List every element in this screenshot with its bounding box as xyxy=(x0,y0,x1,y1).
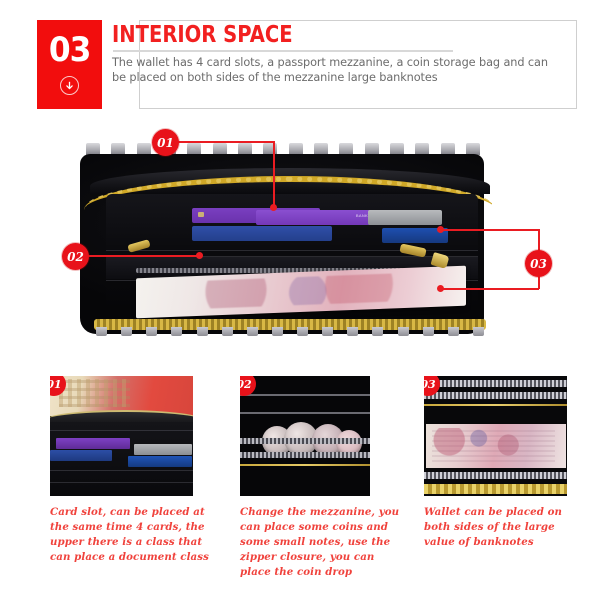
stud xyxy=(146,327,157,336)
card-in-slot xyxy=(368,210,442,225)
leather-edge-line xyxy=(240,412,370,414)
callout-03-target-dot-zipper xyxy=(437,226,444,233)
stud xyxy=(473,327,484,336)
arrow-down-circle-icon xyxy=(60,76,79,95)
wallet-interior: BANK xyxy=(106,194,478,324)
panel-caption-01: Card slot, can be placed at the same tim… xyxy=(50,505,210,565)
thumb2-background xyxy=(240,376,370,496)
stud xyxy=(347,327,358,336)
section-header: 03 INTERIOR SPACE The wallet has 4 card … xyxy=(37,20,577,109)
stud xyxy=(96,327,107,336)
stud xyxy=(398,327,409,336)
slot-divider xyxy=(50,470,193,471)
callout-02-lead-horizontal xyxy=(88,255,200,257)
callout-badge-02: 02 xyxy=(62,243,89,270)
panel-caption-02: Change the mezzanine, you can place some… xyxy=(240,505,400,580)
banknotes xyxy=(426,424,566,468)
section-number-block: 03 xyxy=(37,20,102,109)
bottom-zipper-track xyxy=(424,472,567,479)
card-chip-icon xyxy=(198,212,204,217)
top-zipper-track xyxy=(424,380,567,387)
callout-03-lead-bottom xyxy=(440,288,539,290)
section-number: 03 xyxy=(49,33,91,67)
card-in-slot xyxy=(50,450,112,461)
section-description: The wallet has 4 card slots, a passport … xyxy=(112,56,564,85)
stud xyxy=(222,327,233,336)
detail-panels: 01 Card slot, can be placed at the same … xyxy=(0,376,600,596)
detail-thumbnail-03: 03 xyxy=(424,376,567,496)
stud xyxy=(423,327,434,336)
hero-product-image: BANK xyxy=(72,136,492,351)
stud xyxy=(272,327,283,336)
slot-divider xyxy=(50,430,193,431)
stud xyxy=(322,327,333,336)
stud xyxy=(372,327,383,336)
wallet-body: BANK xyxy=(80,154,484,334)
detail-panel-02: 02 Change the mezzanine, you can place s… xyxy=(240,376,408,580)
stud xyxy=(171,327,182,336)
thumb1-wallet-body xyxy=(50,422,193,496)
card-in-slot xyxy=(134,444,192,455)
bottom-gold-zipper xyxy=(424,484,567,494)
callout-03-target-dot-banknotes xyxy=(437,285,444,292)
mezzanine-zipper xyxy=(240,452,370,458)
stud xyxy=(121,327,132,336)
stud xyxy=(197,327,208,336)
stud xyxy=(448,327,459,336)
mezzanine-zipper xyxy=(240,438,370,444)
card-in-slot: BANK xyxy=(256,210,376,225)
card-in-slot xyxy=(56,438,130,449)
callout-01-lead-horizontal xyxy=(178,141,274,143)
detail-panel-01: 01 Card slot, can be placed at the same … xyxy=(50,376,218,565)
header-text-group: INTERIOR SPACE The wallet has 4 card slo… xyxy=(102,20,577,109)
stud xyxy=(247,327,258,336)
callout-01-lead-vertical xyxy=(273,141,275,207)
detail-thumbnail-02: 02 xyxy=(240,376,370,496)
callout-01-target-dot xyxy=(270,204,277,211)
gold-zipper-edge xyxy=(424,404,567,406)
gold-zipper-edge xyxy=(240,464,370,466)
card-in-slot xyxy=(192,226,332,241)
leather-edge-line xyxy=(240,394,370,396)
thumb3-background xyxy=(424,376,567,496)
panel-caption-03: Wallet can be placed on both sides of th… xyxy=(424,505,584,550)
callout-02-target-dot xyxy=(196,252,203,259)
callout-badge-01: 01 xyxy=(152,129,179,156)
detail-panel-03: 03 Wallet can be placed on both sides of… xyxy=(424,376,592,550)
callout-badge-03: 03 xyxy=(525,250,552,277)
wallet-photo: BANK xyxy=(72,136,492,351)
top-zipper-track xyxy=(424,392,567,399)
title-divider xyxy=(113,50,453,52)
slot-divider xyxy=(50,482,193,483)
callout-03-lead-top xyxy=(440,229,539,231)
page-title: INTERIOR SPACE xyxy=(112,23,507,48)
card-print: BANK xyxy=(356,213,368,218)
stud xyxy=(297,327,308,336)
card-in-slot xyxy=(128,456,192,467)
detail-thumbnail-01: 01 xyxy=(50,376,193,496)
bottom-stud-row xyxy=(96,327,484,336)
